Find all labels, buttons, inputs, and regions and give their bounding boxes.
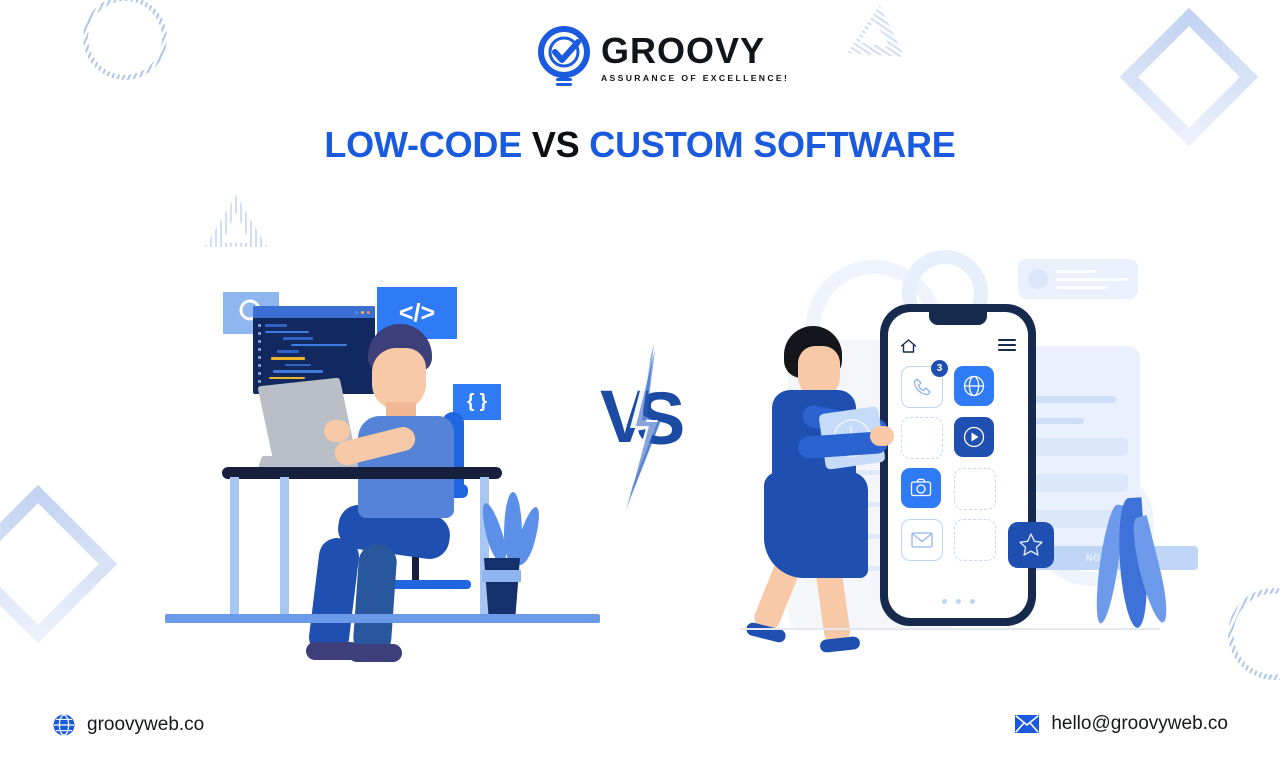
app-tile-play[interactable] bbox=[954, 417, 994, 457]
card-line bbox=[1056, 286, 1108, 289]
user-profile-card bbox=[1018, 259, 1138, 299]
card-line bbox=[1056, 278, 1128, 281]
shoe-front bbox=[348, 644, 402, 662]
hamburger-menu-icon[interactable] bbox=[998, 339, 1016, 354]
page-indicator-dots bbox=[888, 599, 1028, 604]
striped-ring-bottom-right-icon bbox=[1228, 588, 1280, 680]
title-separator: VS bbox=[532, 124, 580, 165]
window-dot-1 bbox=[355, 311, 358, 314]
envelope-icon bbox=[910, 531, 934, 549]
floor-line bbox=[165, 614, 600, 623]
footer-email[interactable]: hello@groovyweb.co bbox=[1014, 713, 1228, 735]
avatar bbox=[1028, 269, 1048, 289]
striped-triangle-top-icon bbox=[847, 5, 921, 81]
plant-pot-band bbox=[482, 570, 521, 582]
envelope-icon bbox=[1014, 714, 1040, 734]
phone-topbar bbox=[900, 338, 1016, 354]
title-part-2: CUSTOM SOFTWARE bbox=[589, 124, 955, 165]
app-tile-globe[interactable] bbox=[954, 366, 994, 406]
plant-pot bbox=[482, 558, 522, 614]
decorative-plant bbox=[1094, 498, 1166, 628]
skirt bbox=[764, 472, 868, 578]
versus-badge: V S bbox=[592, 342, 692, 512]
panel-line bbox=[1024, 396, 1116, 403]
notification-badge: 3 bbox=[931, 360, 948, 377]
app-tile-mail[interactable] bbox=[901, 519, 943, 561]
app-tile-empty-2[interactable] bbox=[954, 468, 996, 510]
hand bbox=[870, 426, 894, 446]
window-dot-2 bbox=[361, 311, 364, 314]
brand-logo[interactable]: GROOVY ASSURANCE OF EXCELLENCE! bbox=[538, 26, 789, 90]
globe-icon bbox=[962, 374, 986, 398]
footer-website-text: groovyweb.co bbox=[87, 714, 204, 736]
woman-figure bbox=[758, 326, 888, 616]
face bbox=[372, 348, 426, 410]
code-window-titlebar bbox=[253, 306, 375, 318]
low-code-app-builder-scene: NG UP 3 bbox=[740, 250, 1160, 636]
window-dot-3 bbox=[367, 311, 370, 314]
hand bbox=[324, 420, 350, 442]
leg-lower-front bbox=[352, 543, 398, 657]
app-tile-phone[interactable]: 3 bbox=[901, 366, 943, 408]
logo-wordmark: GROOVY bbox=[601, 33, 789, 69]
title-part-1: LOW-CODE bbox=[324, 124, 522, 165]
footer-email-text: hello@groovyweb.co bbox=[1051, 713, 1228, 735]
desk-leg-left bbox=[230, 477, 239, 617]
app-tile-empty-1[interactable] bbox=[901, 417, 943, 459]
phone-screen: 3 bbox=[888, 312, 1028, 618]
footer-website[interactable]: groovyweb.co bbox=[52, 713, 204, 737]
panel-line bbox=[1024, 438, 1128, 456]
star-icon bbox=[1017, 531, 1045, 559]
code-gutter bbox=[258, 324, 261, 388]
app-tile-grid: 3 bbox=[901, 366, 994, 561]
phone-notch bbox=[929, 312, 987, 325]
phone-icon bbox=[911, 376, 933, 398]
poster-canvas: GROOVY ASSURANCE OF EXCELLENCE! LOW-CODE… bbox=[0, 0, 1280, 768]
card-line bbox=[1056, 270, 1096, 273]
app-tile-empty-3[interactable] bbox=[954, 519, 996, 561]
desk-leg-mid bbox=[280, 477, 289, 617]
smartphone-mockup: 3 bbox=[880, 304, 1036, 626]
star-tile[interactable] bbox=[1008, 522, 1054, 568]
ground-line bbox=[740, 628, 1160, 630]
app-tile-camera[interactable] bbox=[901, 468, 941, 508]
logo-tagline: ASSURANCE OF EXCELLENCE! bbox=[601, 74, 789, 83]
striped-ring-top-left-icon bbox=[83, 0, 167, 80]
panel-line bbox=[1024, 474, 1128, 492]
custom-software-developer-scene: </> { } bbox=[160, 262, 610, 634]
striped-triangle-left-icon bbox=[205, 195, 267, 247]
rounded-square-left-icon bbox=[0, 485, 117, 643]
camera-icon bbox=[909, 477, 933, 499]
groovy-lightbulb-check-logo-icon bbox=[538, 26, 590, 90]
page-title: LOW-CODE VS CUSTOM SOFTWARE bbox=[0, 124, 1280, 166]
globe-icon bbox=[52, 713, 76, 737]
desk-top bbox=[222, 467, 502, 479]
shoe-front bbox=[819, 636, 860, 653]
play-icon bbox=[962, 425, 986, 449]
home-icon bbox=[900, 338, 917, 354]
